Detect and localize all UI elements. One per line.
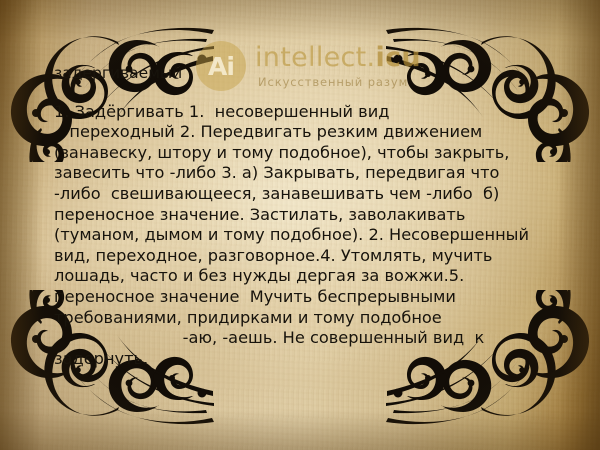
document-page: Ai intellect.icu Искусственный разум зад… [0, 0, 600, 450]
parchment-vignette [0, 0, 600, 450]
